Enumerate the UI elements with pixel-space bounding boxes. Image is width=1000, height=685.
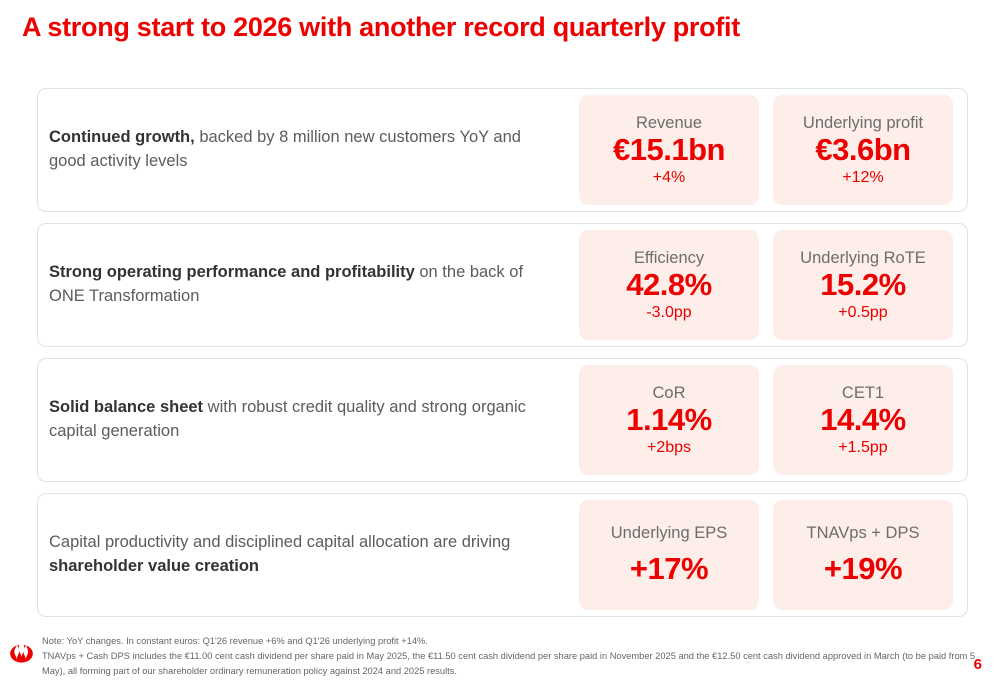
metric-label: TNAVps + DPS [807,524,920,542]
metric-tile[interactable]: CET1 14.4% +1.5pp [773,365,953,475]
metric-tile[interactable]: Underlying profit €3.6bn +12% [773,95,953,205]
metric-delta: +0.5pp [838,304,887,322]
footnote-line-3: May), all forming part of our shareholde… [42,664,947,679]
page-title: A strong start to 2026 with another reco… [22,12,962,43]
slide-footer: Note: YoY changes. In constant euros: Q1… [0,634,1000,685]
metric-label: Underlying EPS [611,524,727,542]
metric-value: 1.14% [626,403,711,438]
highlight-row-text-bold: shareholder value creation [49,557,259,575]
highlight-row-text: Strong operating performance and profita… [38,261,579,309]
metric-tile[interactable]: Underlying RoTE 15.2% +0.5pp [773,230,953,340]
highlight-row: Strong operating performance and profita… [37,223,968,347]
highlight-row: Continued growth, backed by 8 million ne… [37,88,968,212]
metric-value: +19% [824,552,902,587]
page-number: 6 [974,656,982,673]
metric-value: 42.8% [626,268,711,303]
metric-delta: -3.0pp [646,304,691,322]
slide-root: A strong start to 2026 with another reco… [0,0,1000,685]
metrics-group: CoR 1.14% +2bps CET1 14.4% +1.5pp [579,365,967,475]
highlight-row: Solid balance sheet with robust credit q… [37,358,968,482]
metrics-group: Underlying EPS +17% TNAVps + DPS +19% [579,500,967,610]
footnote-line-1: Note: YoY changes. In constant euros: Q1… [42,634,947,649]
metric-value: +17% [630,552,708,587]
highlight-row-text-bold: Strong operating performance and profita… [49,263,415,281]
metric-label: Efficiency [634,249,704,267]
metric-tile[interactable]: Efficiency 42.8% -3.0pp [579,230,759,340]
highlight-row-text-plain: Capital productivity and disciplined cap… [49,533,510,551]
highlight-row: Capital productivity and disciplined cap… [37,493,968,617]
metric-tile[interactable]: TNAVps + DPS +19% [773,500,953,610]
metric-value: €3.6bn [815,133,910,168]
metrics-group: Revenue €15.1bn +4% Underlying profit €3… [579,95,967,205]
metric-label: Revenue [636,114,702,132]
highlight-row-text: Solid balance sheet with robust credit q… [38,396,579,444]
metric-label: Underlying RoTE [800,249,926,267]
highlight-row-text: Capital productivity and disciplined cap… [38,531,579,579]
metric-delta: +4% [653,169,685,187]
metric-label: CoR [652,384,685,402]
highlight-row-text-bold: Continued growth, [49,128,195,146]
metric-label: CET1 [842,384,884,402]
footnote-line-2: TNAVps + Cash DPS includes the €11.00 ce… [42,649,947,664]
metric-delta: +12% [842,169,883,187]
highlight-row-text: Continued growth, backed by 8 million ne… [38,126,579,174]
metric-tile[interactable]: Underlying EPS +17% [579,500,759,610]
metric-value: 14.4% [820,403,905,438]
metric-tile[interactable]: Revenue €15.1bn +4% [579,95,759,205]
metric-value: 15.2% [820,268,905,303]
rows-container: Continued growth, backed by 8 million ne… [37,88,968,617]
highlight-row-text-bold: Solid balance sheet [49,398,203,416]
metric-label: Underlying profit [803,114,923,132]
metric-delta: +2bps [647,439,691,457]
metric-delta: +1.5pp [838,439,887,457]
footnote-block: Note: YoY changes. In constant euros: Q1… [42,634,947,679]
metric-tile[interactable]: CoR 1.14% +2bps [579,365,759,475]
metrics-group: Efficiency 42.8% -3.0pp Underlying RoTE … [579,230,967,340]
santander-flame-logo-icon [8,638,35,665]
metric-value: €15.1bn [613,133,725,168]
